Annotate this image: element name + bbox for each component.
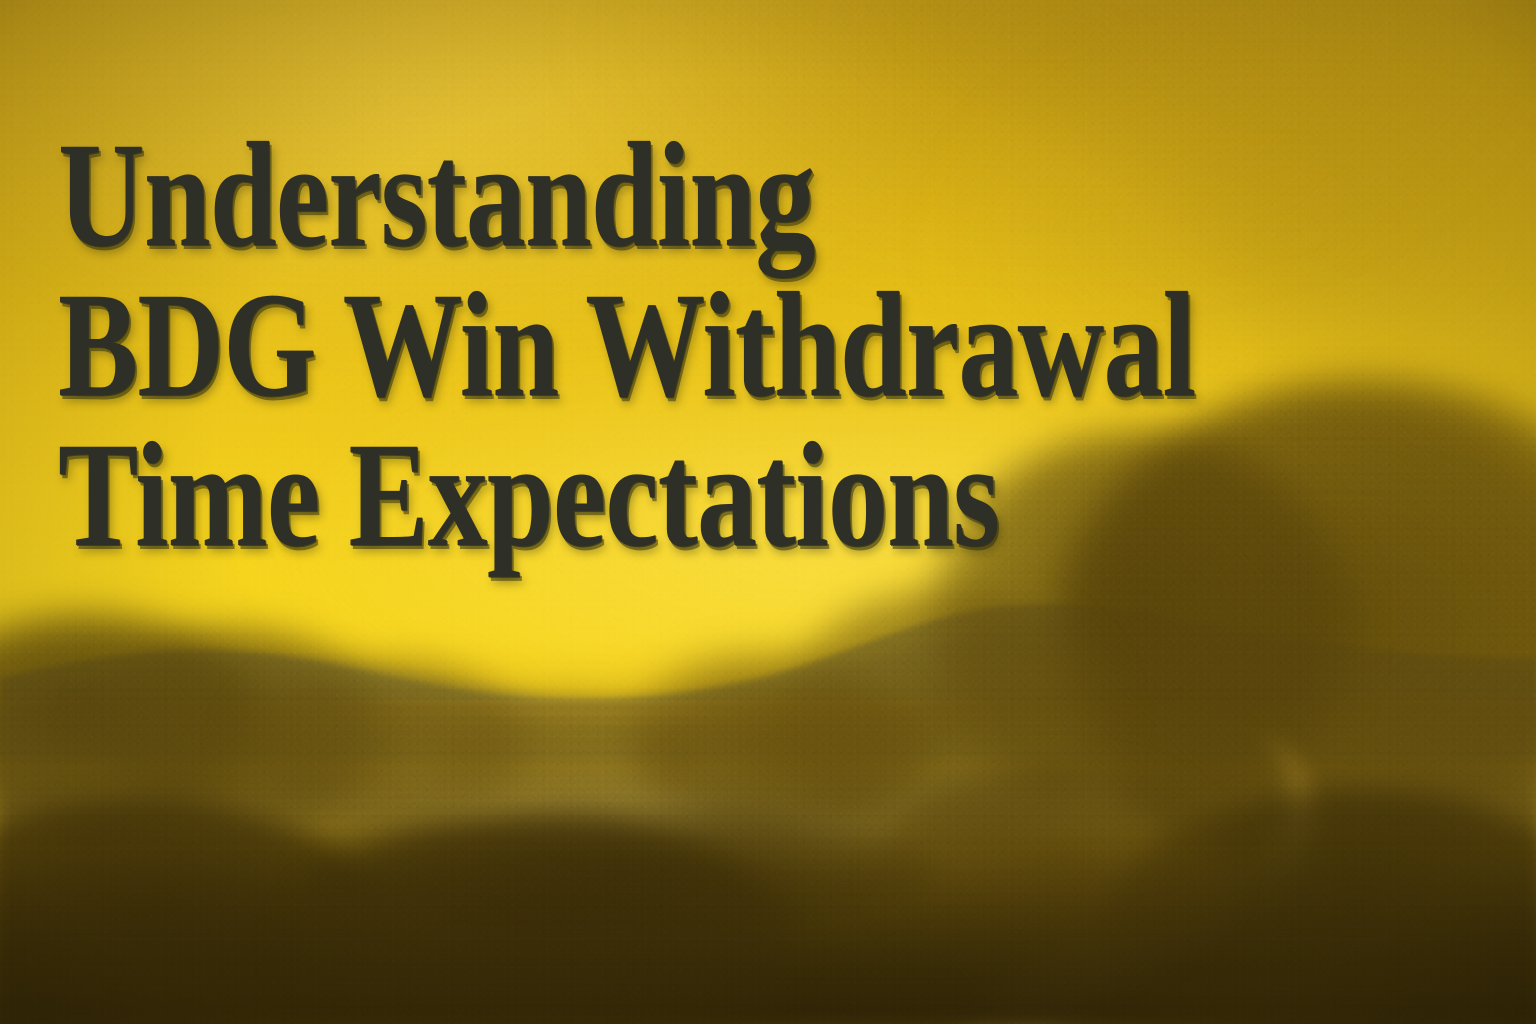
title-line-3: Time Expectations [58,420,1066,570]
page-title: Understanding BDG Win Withdrawal Time Ex… [58,120,1318,570]
title-line-1: Understanding [58,120,1066,270]
header-graphic: Understanding BDG Win Withdrawal Time Ex… [0,0,1536,1024]
title-line-2: BDG Win Withdrawal [58,270,1066,420]
